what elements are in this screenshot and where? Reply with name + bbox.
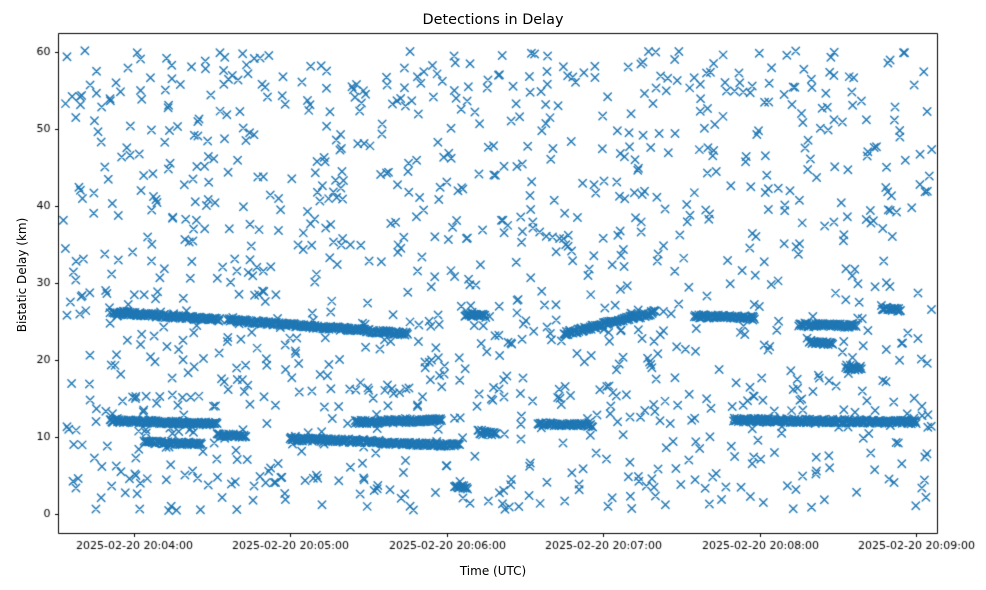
scatter-plot-canvas [0,0,986,590]
matplotlib-figure: Detections in Delay Time (UTC) Bistatic … [0,0,986,590]
